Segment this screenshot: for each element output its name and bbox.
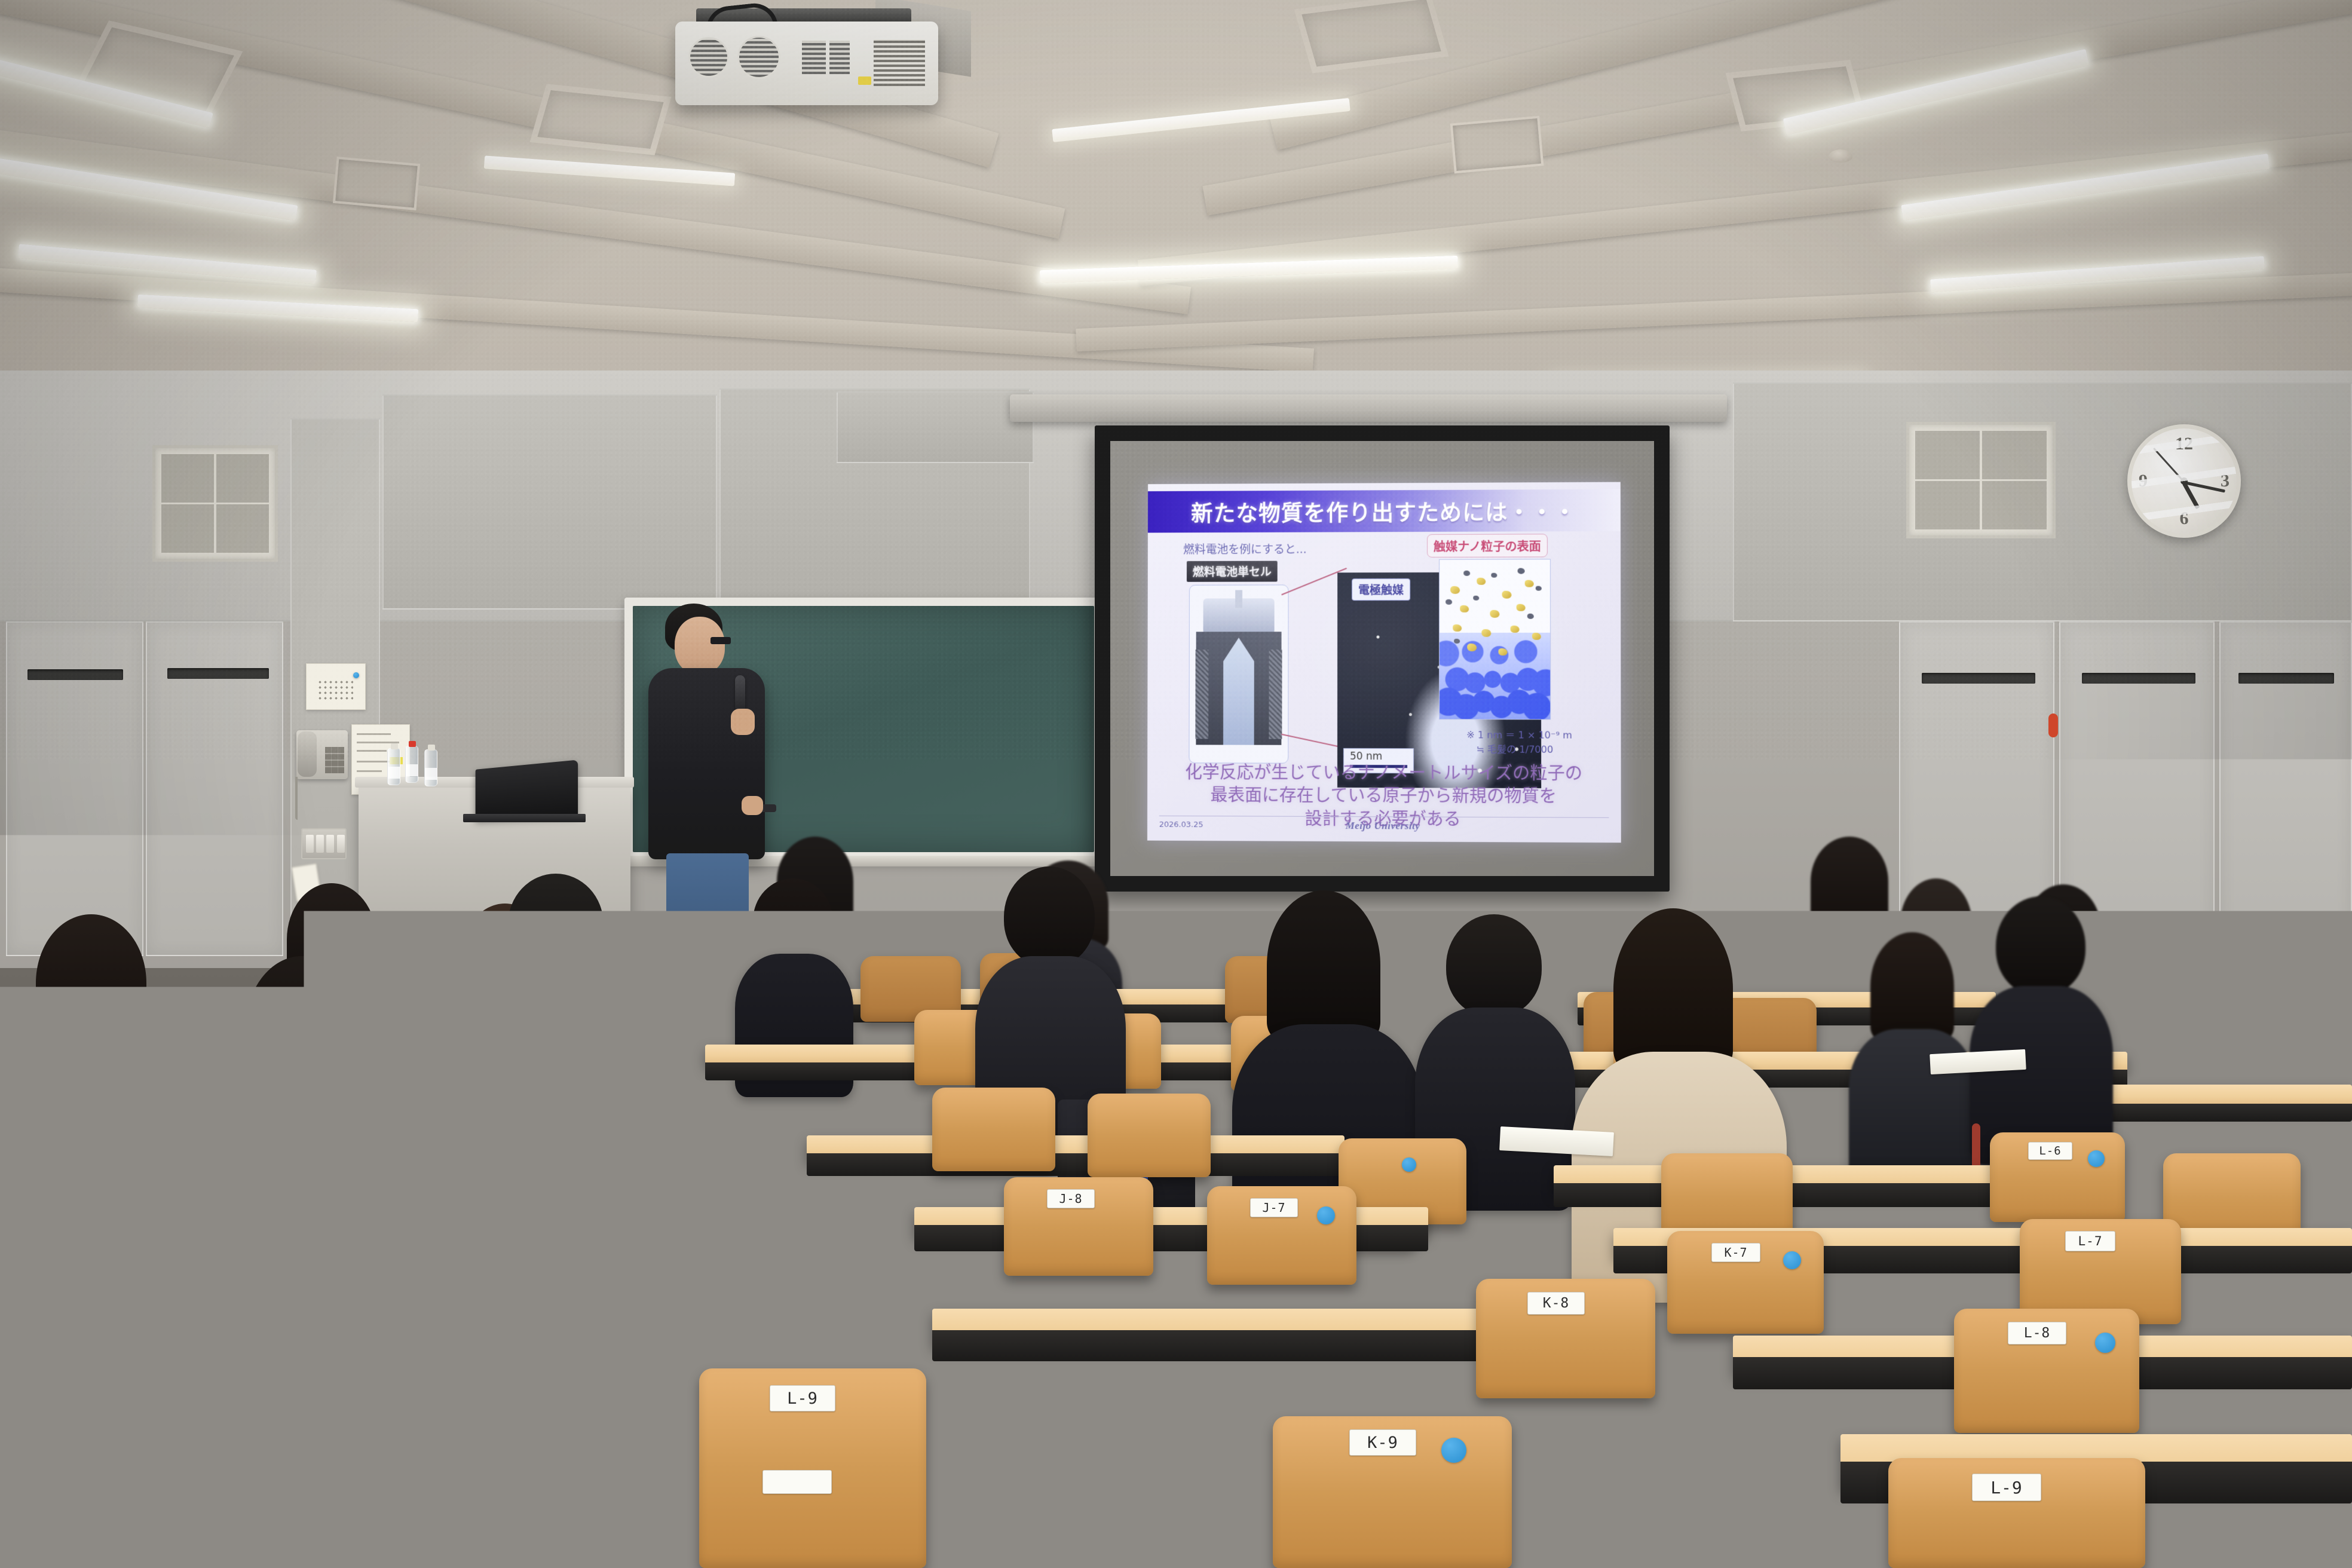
- wall-cabinet-door: [146, 621, 283, 956]
- wall-window: [1906, 422, 2056, 538]
- nanoparticle-adatom: [1445, 599, 1452, 605]
- nanoparticle-adatom: [1463, 571, 1470, 576]
- light-switch-panel[interactable]: [301, 828, 347, 859]
- microphone[interactable]: [735, 675, 745, 712]
- phone-keypad[interactable]: [325, 747, 344, 773]
- light-switch[interactable]: [306, 835, 314, 853]
- projector-vent-icon: [874, 39, 925, 86]
- desk: [807, 1135, 1345, 1160]
- chair[interactable]: J-7: [1207, 1186, 1356, 1285]
- wall-panel-center: [837, 391, 1034, 463]
- cabinet-vent-icon: [1922, 673, 2035, 684]
- slide-subtitle: 燃料電池を例にすると...: [1183, 541, 1307, 557]
- water-bottle[interactable]: [387, 748, 400, 785]
- nanoparticle-gold: [1481, 629, 1491, 637]
- nanoparticle-gold: [1460, 605, 1469, 612]
- chair[interactable]: J-8: [1004, 1177, 1153, 1276]
- seat-label: L-9: [1972, 1474, 2041, 1501]
- slide-footer-org: Meijo University: [1159, 819, 1609, 832]
- chair[interactable]: L-9: [699, 1368, 926, 1568]
- desk-front-panel: [0, 1249, 514, 1276]
- hair: [1811, 837, 1888, 926]
- desk: [0, 1231, 514, 1261]
- cabinet-handle[interactable]: [2048, 713, 2058, 737]
- laptop-base[interactable]: [463, 814, 586, 822]
- seat-label: J-7: [1250, 1198, 1298, 1217]
- head: [1004, 866, 1095, 967]
- ceiling-projector: [675, 22, 938, 105]
- chair[interactable]: [932, 1088, 1055, 1171]
- chair[interactable]: I-7: [412, 1123, 543, 1211]
- bottle-cap: [409, 741, 416, 747]
- nanoparticle-gold: [1502, 591, 1511, 599]
- slide-title: 新たな物質を作り出すためには・・・: [1148, 489, 1621, 533]
- light-switch[interactable]: [316, 835, 324, 853]
- chair[interactable]: L-8: [1954, 1309, 2139, 1433]
- projection-screen: 新たな物質を作り出すためには・・・ 燃料電池を例にすると... 触媒ナノ粒子の表…: [1095, 425, 1670, 892]
- chair[interactable]: K-9: [1273, 1416, 1512, 1568]
- glasses-icon: [710, 637, 731, 644]
- seat-label: I-8: [7, 1113, 49, 1130]
- cabinet-vent-icon: [2238, 673, 2334, 684]
- nanoparticle-gold: [1532, 633, 1541, 640]
- projector-vent-icon: [802, 41, 826, 74]
- chair[interactable]: J-9: [96, 1189, 245, 1288]
- seat-dot-marker: [1317, 1206, 1335, 1224]
- projector-vent-icon: [688, 37, 729, 78]
- presenter-head: [675, 617, 725, 674]
- seat-dot-marker: [1441, 1438, 1466, 1463]
- phone-handset[interactable]: [298, 731, 317, 777]
- nanoparticle-gold: [1498, 648, 1507, 656]
- seat-label: K-9: [1349, 1429, 1416, 1456]
- seat-label: K-8: [1527, 1292, 1585, 1315]
- nanoparticle-gold: [1511, 626, 1520, 633]
- desk-front-panel: [0, 1474, 478, 1515]
- nanoparticle-gold: [1525, 580, 1534, 587]
- slide-label-cell: 燃料電池単セル: [1187, 561, 1278, 582]
- seat-info-tag: [84, 1386, 146, 1408]
- smoke-detector-icon: [1829, 149, 1852, 163]
- water-bottle[interactable]: [405, 746, 418, 783]
- nanoparticle-gold: [1450, 586, 1460, 594]
- hair: [1267, 890, 1380, 1040]
- chair[interactable]: L-6: [1990, 1132, 2125, 1222]
- fuel-cell-electrode: [1269, 650, 1282, 739]
- seat-dot-marker: [2088, 1150, 2105, 1167]
- slide-label-catalyst: 電極触媒: [1352, 578, 1410, 601]
- slide-body-line-2: 最表面に存在している原子から新規の物質を: [1147, 783, 1621, 808]
- wall-clock: 12 3 6 9: [2127, 424, 2241, 538]
- chair[interactable]: I-8: [0, 1102, 125, 1186]
- head: [753, 878, 833, 963]
- chair[interactable]: K-7: [1667, 1231, 1824, 1334]
- slide-footer: 2026.03.25 Meijo University: [1159, 816, 1609, 835]
- window-glass: [1915, 431, 2047, 529]
- desk-front-panel: [807, 1153, 1345, 1176]
- seat-label: K-7: [1711, 1243, 1760, 1262]
- seat-label: L-6: [2028, 1142, 2072, 1160]
- bottle-cap: [391, 743, 398, 749]
- nanoparticle-gold: [1517, 604, 1526, 611]
- hair: [245, 956, 359, 1105]
- wall-cabinet-door: [6, 621, 143, 956]
- nanoparticle-substrate: [1440, 633, 1550, 719]
- head: [1996, 896, 2085, 996]
- nanoparticle-gold: [1467, 644, 1477, 651]
- nanoparticle-adatom: [1473, 596, 1479, 601]
- wall-cabinet-door[interactable]: [2219, 621, 2352, 992]
- laptop[interactable]: [476, 759, 578, 819]
- seat-dot-marker: [2095, 1333, 2115, 1353]
- slide-label-nanoparticle: 触媒ナノ粒子の表面: [1427, 534, 1548, 558]
- notice-dot-icon: [353, 672, 359, 678]
- screen-housing: [1010, 394, 1727, 422]
- projector-vent-icon: [829, 41, 850, 74]
- clock-glass-reflection: [2131, 428, 2237, 534]
- footnote-line-1: ※ 1 nm ＝ 1 × 10⁻⁹ m: [1466, 728, 1605, 743]
- head: [508, 874, 604, 975]
- nanoparticle-gold: [1453, 624, 1462, 632]
- hair: [1870, 932, 1954, 1040]
- seat-info-tag: [762, 1470, 832, 1494]
- hair: [36, 914, 146, 1052]
- water-bottle[interactable]: [424, 749, 437, 786]
- projector-sticker: [858, 76, 871, 85]
- seat-label: J-9: [137, 1201, 185, 1220]
- intercom-speaker-icon: [317, 679, 353, 700]
- footnote-line-2: ≒ 毛髪の 1/7000: [1476, 742, 1605, 757]
- cabinet-vent-icon: [167, 668, 269, 679]
- presenter-torso: [648, 668, 765, 859]
- slide-body-line-1: 化学反応が生じているナノメートルサイズの粒子の: [1147, 761, 1621, 785]
- nanoparticle-adatom: [1536, 586, 1542, 591]
- seat-label: L-7: [2065, 1231, 2115, 1251]
- chair[interactable]: K-8: [1476, 1279, 1655, 1398]
- presenter-hand: [742, 796, 763, 815]
- hair: [1613, 908, 1733, 1070]
- bottle-label: [425, 768, 437, 780]
- cabinet-vent-icon: [2082, 673, 2195, 684]
- presentation-slide: 新たな物質を作り出すためには・・・ 燃料電池を例にすると... 触媒ナノ粒子の表…: [1147, 482, 1621, 843]
- seat-label: L-8: [2008, 1322, 2066, 1345]
- chair[interactable]: [36, 1315, 233, 1464]
- nanoparticle-adatom: [1518, 568, 1525, 574]
- screen-surface: 新たな物質を作り出すためには・・・ 燃料電池を例にすると... 触媒ナノ粒子の表…: [1110, 441, 1654, 876]
- nanoparticle-gold: [1490, 610, 1499, 618]
- slide-panel-fuel-cell: [1189, 584, 1288, 763]
- seat-label: L-9: [770, 1385, 835, 1411]
- ceiling-vent: [333, 157, 420, 210]
- phone-cord: [295, 777, 298, 820]
- seat-label: I-7: [449, 1134, 492, 1151]
- bottle-label: [406, 764, 418, 776]
- seat-dot-marker: [515, 1138, 529, 1152]
- nanoparticle-adatom: [1491, 573, 1497, 578]
- wall-panel-center: [382, 394, 717, 610]
- seat-label: J-8: [1047, 1189, 1095, 1208]
- slide-panel-nanoparticle-surface: [1439, 559, 1551, 719]
- presenter-hand: [731, 709, 755, 735]
- cabinet-vent-icon: [27, 669, 123, 680]
- ceiling-vent: [1450, 116, 1544, 174]
- bottle-cap: [428, 745, 435, 751]
- wall-outlet-plate[interactable]: [1572, 914, 1598, 951]
- nanoparticle-gold: [1477, 578, 1486, 585]
- fuel-cell-drawing: [1235, 590, 1242, 608]
- window-glass: [161, 454, 269, 553]
- chair[interactable]: L-9: [1888, 1458, 2145, 1568]
- nanoparticle-adatom: [1527, 614, 1534, 619]
- nanoparticle-adatom: [1454, 639, 1460, 644]
- wall-notice: [306, 663, 366, 710]
- wall-window: [152, 445, 278, 562]
- light-switch[interactable]: [326, 835, 334, 853]
- light-switch[interactable]: [337, 835, 345, 853]
- projector-vent-icon: [737, 36, 780, 79]
- seat-dot-marker: [1783, 1251, 1801, 1269]
- seat-dot-marker: [1402, 1157, 1416, 1172]
- presenter-legs: [666, 853, 749, 967]
- bottle-label: [388, 767, 400, 779]
- lecture-hall-photo: 12 3 6 9 新たな物質を作り出すためには・・・ 燃料電池を例にすると...…: [0, 0, 2352, 1568]
- slide-footnote: ※ 1 nm ＝ 1 × 10⁻⁹ m ≒ 毛髪の 1/7000: [1466, 728, 1605, 757]
- head: [1446, 914, 1542, 1017]
- chair[interactable]: [1088, 1094, 1211, 1177]
- fuel-cell-electrode: [1195, 650, 1208, 739]
